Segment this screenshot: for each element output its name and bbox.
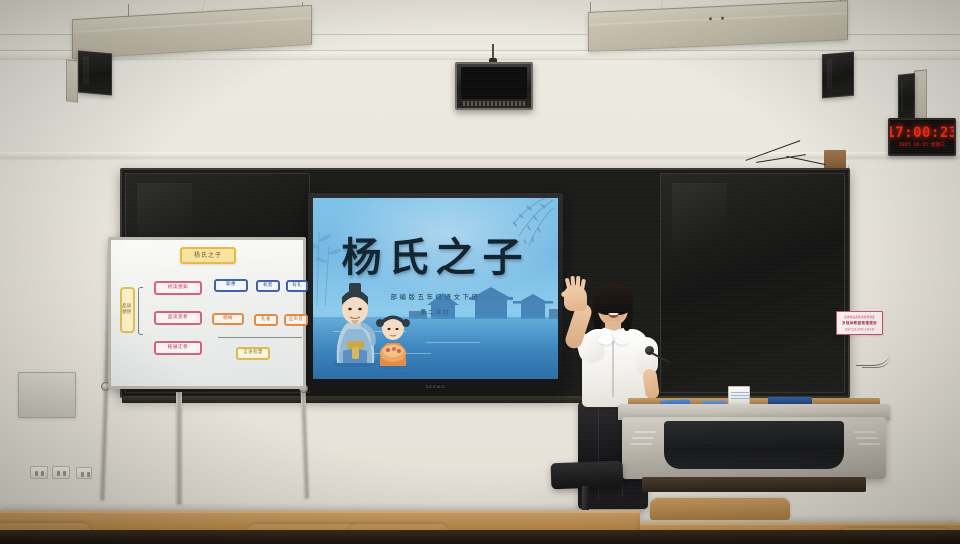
wall-outlet[interactable]: [30, 466, 48, 479]
desk-edge-highlight: [640, 522, 960, 525]
ceiling-display-unit: [455, 62, 533, 110]
finger: [580, 279, 586, 291]
panel-fixing-dot: [721, 17, 724, 20]
speaker-bracket: [914, 69, 927, 122]
whiteboard-card-step-1[interactable]: 初读感知: [154, 281, 202, 295]
display-brand-label: SEEWO: [426, 384, 446, 389]
whiteboard-card-blue-1[interactable]: 聪惠: [214, 279, 248, 292]
podium-tissue-box[interactable]: [728, 386, 750, 406]
podium-vent-line: [634, 431, 656, 433]
box-label: [731, 392, 749, 399]
scholar-illustration: [329, 279, 381, 367]
desk-edge-highlight: [0, 510, 640, 513]
whiteboard-card-blue-2[interactable]: 机智: [256, 280, 280, 292]
sign-line-3: 请爱护设备 使用后关闭电源: [845, 327, 874, 331]
thumb: [560, 289, 569, 298]
podium-vent-line: [858, 443, 880, 445]
panel-fixing-dot: [709, 17, 712, 20]
podium-base-shelf: [642, 477, 866, 492]
wall-rail: [0, 152, 960, 158]
wall-outlet[interactable]: [76, 467, 92, 479]
whiteboard-title-card[interactable]: 杨氏之子: [180, 247, 236, 264]
easel-leg-center: [176, 392, 182, 504]
wall-speaker: [78, 51, 112, 96]
digital-clock: 17:00:23 2025-10-15 星期三: [888, 118, 956, 156]
whiteboard-underline: [218, 337, 302, 338]
whiteboard-card-step-2[interactable]: 品读赏析: [154, 311, 202, 325]
child-illustration: [375, 311, 411, 369]
display-mount-stem: [492, 44, 494, 64]
office-chair-seat[interactable]: [551, 461, 624, 489]
whiteboard-card-orange-1[interactable]: 杨梅: [212, 313, 244, 325]
whiteboard-vertical-label[interactable]: 品读感悟: [120, 287, 135, 333]
clock-time: 17:00:23: [888, 126, 956, 140]
blouse-placket: [612, 341, 614, 397]
whiteboard-card-bottom[interactable]: 言语智慧: [236, 347, 270, 360]
water-ripple: [426, 342, 480, 343]
wall-speaker: [898, 73, 915, 123]
whiteboard-card-step-3[interactable]: 拓展迁移: [154, 341, 202, 355]
display-unit-vent: [463, 101, 525, 106]
blackboard-panel-right: [660, 173, 845, 393]
display-unit-screen: [461, 67, 527, 99]
light-hanger: [590, 2, 591, 12]
podium-vent-line: [854, 431, 876, 433]
clock-date: 2025-10-15 星期三: [899, 144, 945, 149]
podium-vent-line: [632, 437, 654, 439]
podium-front-inset: [664, 421, 844, 469]
podium-vent-line: [856, 437, 878, 439]
sign-line-2: 多媒体教室管理规定: [842, 321, 877, 326]
podium-body: [622, 417, 886, 479]
slide-title: 杨氏之子: [313, 238, 558, 278]
wall-access-panel: [18, 372, 76, 418]
whiteboard[interactable]: 杨氏之子 品读感悟 初读感知 品读赏析 拓展迁移 聪惠 机智 有礼 杨梅 孔雀 …: [108, 237, 306, 389]
wall-outlet[interactable]: [52, 466, 70, 479]
wall-regulation-sign: 多媒体设备使用管理制度 多媒体教室管理规定 请爱护设备 使用后关闭电源: [836, 311, 883, 335]
smart-display[interactable]: 杨氏之子 部编版五年级语文下册 第二课时: [308, 193, 563, 391]
whiteboard-surface: 杨氏之子 品读感悟 初读感知 品读赏析 拓展迁移 聪惠 机智 有礼 杨梅 孔雀 …: [114, 243, 300, 383]
sign-line-1: 多媒体设备使用管理制度: [844, 315, 875, 319]
wall-cable: [862, 348, 890, 368]
podium-vent-line: [630, 443, 652, 445]
floor-shadow: [0, 530, 960, 544]
wall-speaker: [822, 52, 854, 99]
whiteboard-card-blue-3[interactable]: 有礼: [286, 280, 308, 292]
chair-back[interactable]: [650, 498, 790, 520]
teacher-hand-raised: [564, 285, 587, 311]
presentation-slide: 杨氏之子 部编版五年级语文下册 第二课时: [313, 198, 558, 379]
speaker-bracket: [66, 59, 78, 102]
teacher-hair: [593, 283, 633, 315]
blackboard-sheen: [672, 183, 727, 270]
whiteboard-card-orange-2[interactable]: 孔雀: [254, 314, 278, 326]
multimedia-podium[interactable]: [618, 404, 890, 492]
classroom-scene: 17:00:23 2025-10-15 星期三 多媒体设备使用管理制度 多媒体教…: [0, 0, 960, 544]
whiteboard-brace: [138, 287, 143, 335]
whiteboard-card-orange-3[interactable]: 应声答: [284, 314, 308, 326]
microphone-head: [645, 346, 654, 355]
